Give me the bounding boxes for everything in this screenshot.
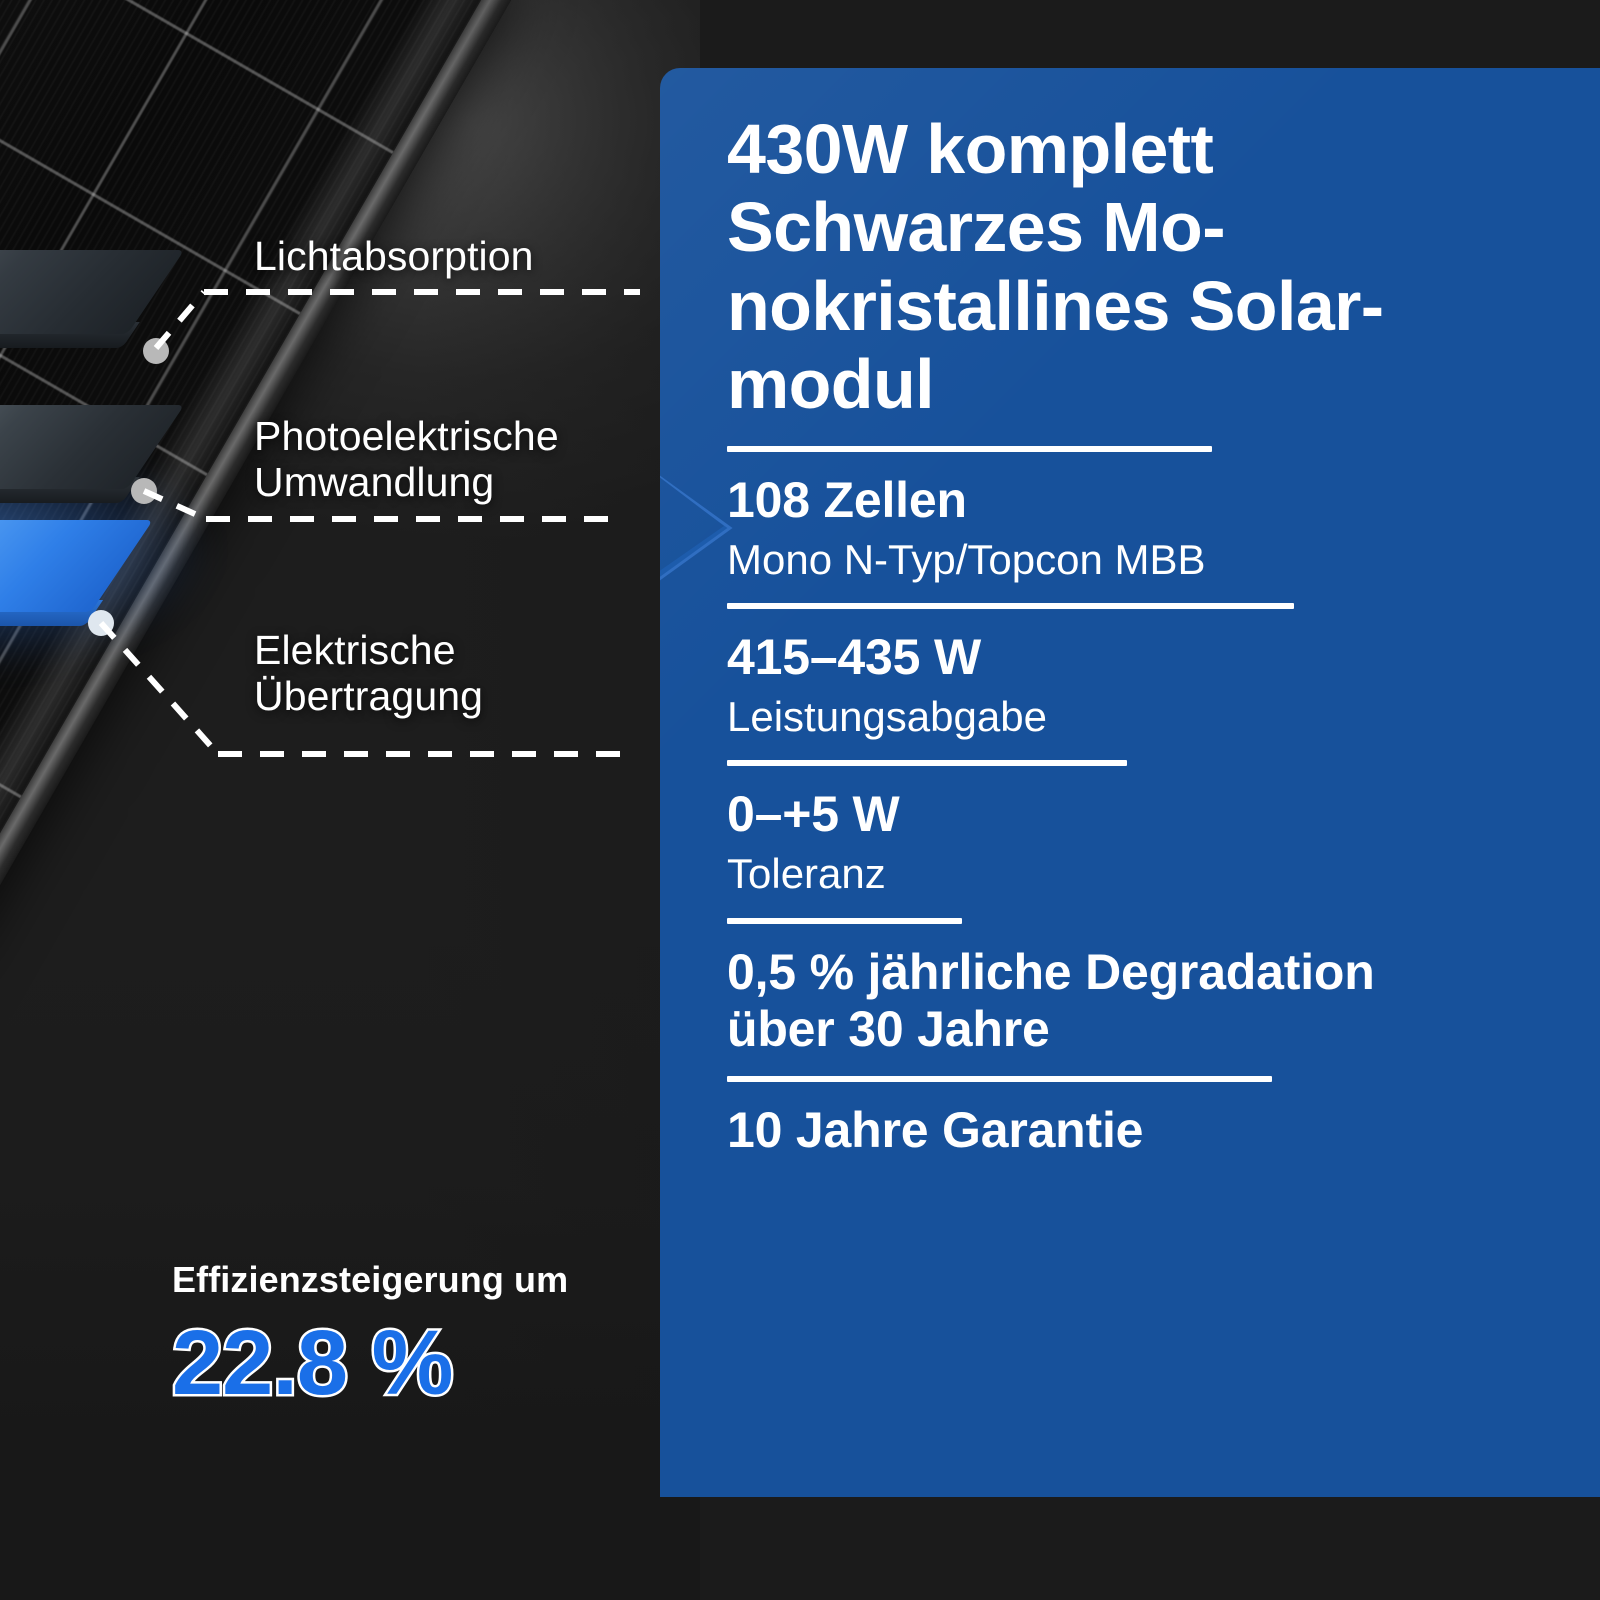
spec-row-tolerance: 0–+5 W Toleranz	[727, 760, 1600, 917]
spec-list: 108 Zellen Mono N-Typ/Topcon MBB 415–435…	[727, 446, 1600, 1177]
spec-panel-content: 430W komplett Schwarzes Mo­nokristalline…	[727, 68, 1600, 1497]
spec-body-3: 0–+5 W Toleranz	[727, 766, 1600, 917]
spec-main-2: 415–435 W	[727, 629, 1600, 686]
spec-sub-1: Mono N-Typ/Topcon MBB	[727, 535, 1600, 585]
marker-dot-lichtabsorption	[143, 338, 169, 364]
spec-body-1: 108 Zellen Mono N-Typ/Topcon MBB	[727, 452, 1600, 603]
marker-dot-photoelektrische-umwandlung	[131, 478, 157, 504]
marker-dot-elektrische-uebertragung	[88, 610, 114, 636]
annotation-label-lichtabsorption: Lichtabsorption	[254, 234, 534, 280]
efficiency-label: Effizienzsteigerung um	[172, 1258, 642, 1301]
product-title: 430W komplett Schwarzes Mo­nokristalline…	[727, 68, 1557, 424]
spec-row-warranty: 10 Jahre Garantie	[727, 1076, 1600, 1177]
spec-body-2: 415–435 W Leistungsabgabe	[727, 609, 1600, 760]
spec-sub-2: Leistungsabgabe	[727, 692, 1600, 742]
spec-row-cells: 108 Zellen Mono N-Typ/Topcon MBB	[727, 446, 1600, 603]
spec-main-1: 108 Zellen	[727, 472, 1600, 529]
product-photo: Lichtabsorption Photoelektrische Umwandl…	[0, 0, 700, 1600]
spec-panel: 430W komplett Schwarzes Mo­nokristalline…	[660, 68, 1600, 1497]
spec-main-4: 0,5 % jährliche Degradation über 30 Jahr…	[727, 944, 1600, 1058]
infographic-canvas: Lichtabsorption Photoelektrische Umwandl…	[0, 0, 1600, 1600]
efficiency-callout: Effizienzsteigerung um 22.8 %	[172, 1258, 642, 1409]
spec-main-3: 0–+5 W	[727, 786, 1600, 843]
spec-row-power: 415–435 W Leistungsabgabe	[727, 603, 1600, 760]
spec-body-4: 0,5 % jährliche Degradation über 30 Jahr…	[727, 924, 1600, 1076]
spec-row-degradation: 0,5 % jährliche Degradation über 30 Jahr…	[727, 918, 1600, 1076]
efficiency-value: 22.8 %	[172, 1317, 642, 1409]
spec-main-5: 10 Jahre Garantie	[727, 1102, 1600, 1159]
annotation-label-elektrische-uebertragung: Elektrische Übertragung	[254, 628, 483, 720]
spec-sub-3: Toleranz	[727, 849, 1600, 899]
annotation-label-photoelektrische-umwandlung: Photoelektrische Umwandlung	[254, 414, 559, 506]
spec-body-5: 10 Jahre Garantie	[727, 1082, 1600, 1177]
